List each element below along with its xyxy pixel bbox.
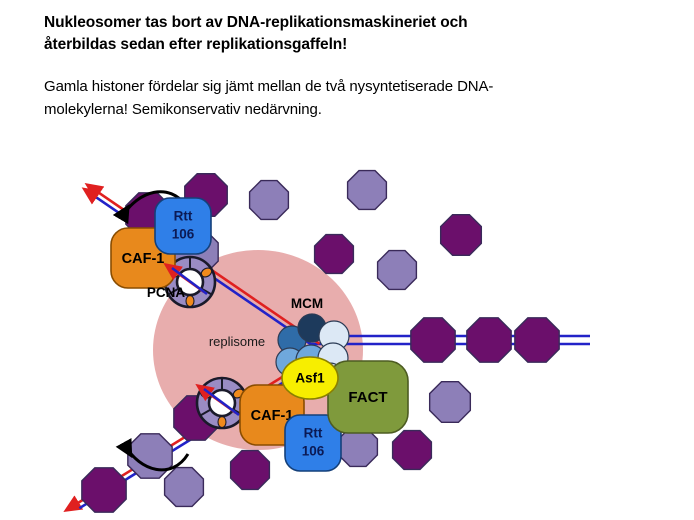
pcna-ring-bottom-subunit-dot-2 [218,417,226,428]
fact-label: FACT [348,389,387,406]
asf1-chaperone[interactable]: Asf1 [282,357,338,399]
free-nucleosome-2 [250,181,289,220]
free-nucleosome-10 [231,451,270,490]
free-nucleosome-4 [315,235,354,274]
nucleosome-lagging-3 [82,468,126,512]
replisome-label: replisome [209,334,265,349]
slide-title-line-2: återbildas sedan efter replikationsgaffe… [44,34,644,56]
asf1-label: Asf1 [295,371,325,386]
free-nucleosome-3 [348,171,387,210]
free-nucleosome-7 [430,382,471,423]
nucleosome-parental-1 [411,318,455,362]
nucleosome-parental-3 [515,318,559,362]
rtt106-top-label-line2: 106 [172,227,195,242]
mcm-label: MCM [291,296,323,311]
pcna-label: PCNA [147,285,186,300]
rtt106-top-label-line1: Rtt [174,209,193,224]
free-nucleosome-6 [378,251,417,290]
nucleosome-parental-2 [467,318,511,362]
rtt106-top-chaperone[interactable]: Rtt 106 [155,198,211,254]
replication-diagram-figure: CAF-1 Rtt 106 CAF-1 Rtt 106 [0,150,694,520]
free-nucleosome-9 [393,431,432,470]
pcna-ring-top-subunit-dot-2 [186,296,194,307]
rtt106-bottom-label-line1: Rtt [304,426,323,441]
slide-body-line-2: molekylerna! Semikonservativ nedärvning. [44,99,664,122]
slide-body: Gamla histoner fördelar sig jämt mellan … [44,76,664,121]
slide-title: Nukleosomer tas bort av DNA-replikations… [44,12,644,56]
slide-title-line-1: Nukleosomer tas bort av DNA-replikations… [44,12,644,34]
caf1-top-label: CAF-1 [122,251,165,267]
rtt106-bottom-label-line2: 106 [302,444,325,459]
free-nucleosome-11 [165,468,204,507]
nucleosomes-on-parental-duplex [411,318,559,362]
replication-diagram-svg: CAF-1 Rtt 106 CAF-1 Rtt 106 [0,150,694,520]
fact-chaperone[interactable]: FACT [328,361,408,433]
slide-canvas: Nukleosomer tas bort av DNA-replikations… [0,0,694,520]
slide-body-line-1: Gamla histoner fördelar sig jämt mellan … [44,76,664,99]
free-nucleosome-5 [441,215,482,256]
